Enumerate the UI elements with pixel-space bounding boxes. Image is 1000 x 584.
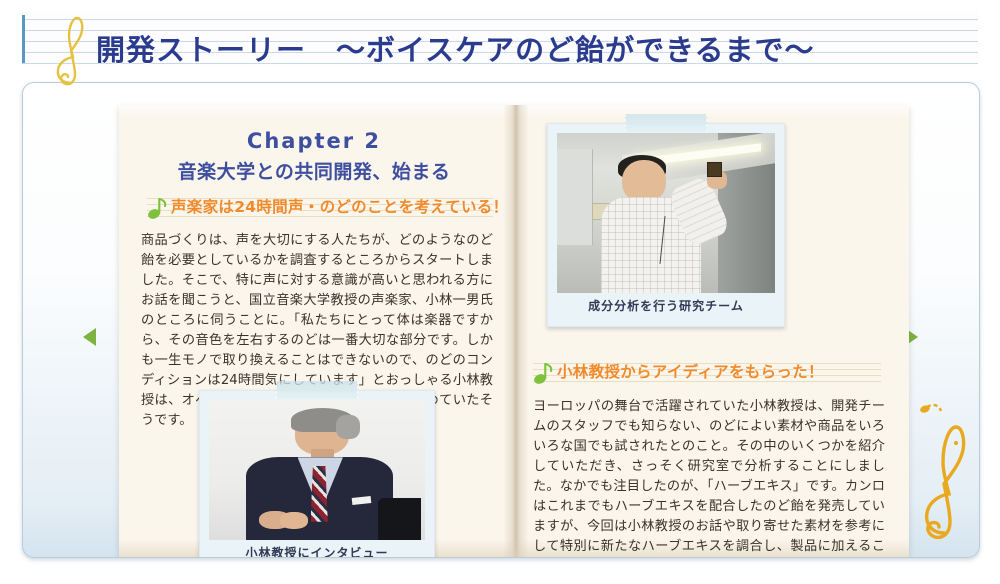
right-section-heading: 小林教授からアイディアをもらった！ bbox=[533, 360, 881, 386]
professor-interview-photo bbox=[209, 400, 425, 540]
research-team-photo-card: 成分分析を行う研究チーム bbox=[547, 123, 785, 327]
eighth-note-icon bbox=[147, 196, 169, 220]
prev-page-arrow[interactable] bbox=[83, 328, 101, 346]
arrow-left-icon bbox=[83, 328, 96, 346]
book-right-page: 成分分析を行う研究チーム 小林教授からアイディアをもらった！ ヨーロッパの舞台で… bbox=[519, 105, 909, 557]
right-body-text: ヨーロッパの舞台で活躍されていた小林教授は、開発チームのスタッフでも知らない、の… bbox=[533, 397, 885, 558]
left-section-heading-text: 声楽家は24時間声・のどのことを考えている！ bbox=[171, 195, 508, 217]
right-section-heading-text: 小林教授からアイディアをもらった！ bbox=[557, 360, 824, 382]
professor-interview-photo-card: 小林教授にインタビュー bbox=[199, 390, 435, 558]
tape-icon bbox=[276, 381, 358, 399]
left-section-heading: 声楽家は24時間声・のどのことを考えている！ bbox=[147, 195, 493, 221]
treble-clef-icon bbox=[48, 13, 94, 89]
tape-icon bbox=[625, 114, 707, 132]
treble-clef-icon bbox=[915, 383, 973, 543]
research-team-photo-caption: 成分分析を行う研究チーム bbox=[557, 293, 775, 319]
title-banner: 開発ストーリー ～ボイスケアのど飴ができるまで～ bbox=[22, 11, 978, 65]
chapter-subtitle: 音楽大学との共同開発、始まる bbox=[119, 157, 509, 184]
open-book: Chapter 2 音楽大学との共同開発、始まる 声楽家は24時間声・のどのこと… bbox=[119, 105, 909, 557]
page-title: 開発ストーリー ～ボイスケアのど飴ができるまで～ bbox=[96, 27, 815, 69]
professor-interview-photo-caption: 小林教授にインタビュー bbox=[209, 540, 425, 558]
research-team-photo bbox=[557, 133, 775, 293]
chapter-label: Chapter 2 bbox=[119, 129, 509, 153]
book-left-page: Chapter 2 音楽大学との共同開発、始まる 声楽家は24時間声・のどのこと… bbox=[119, 105, 509, 557]
eighth-note-icon bbox=[533, 361, 555, 385]
content-panel: Chapter 2 音楽大学との共同開発、始まる 声楽家は24時間声・のどのこと… bbox=[22, 82, 980, 558]
